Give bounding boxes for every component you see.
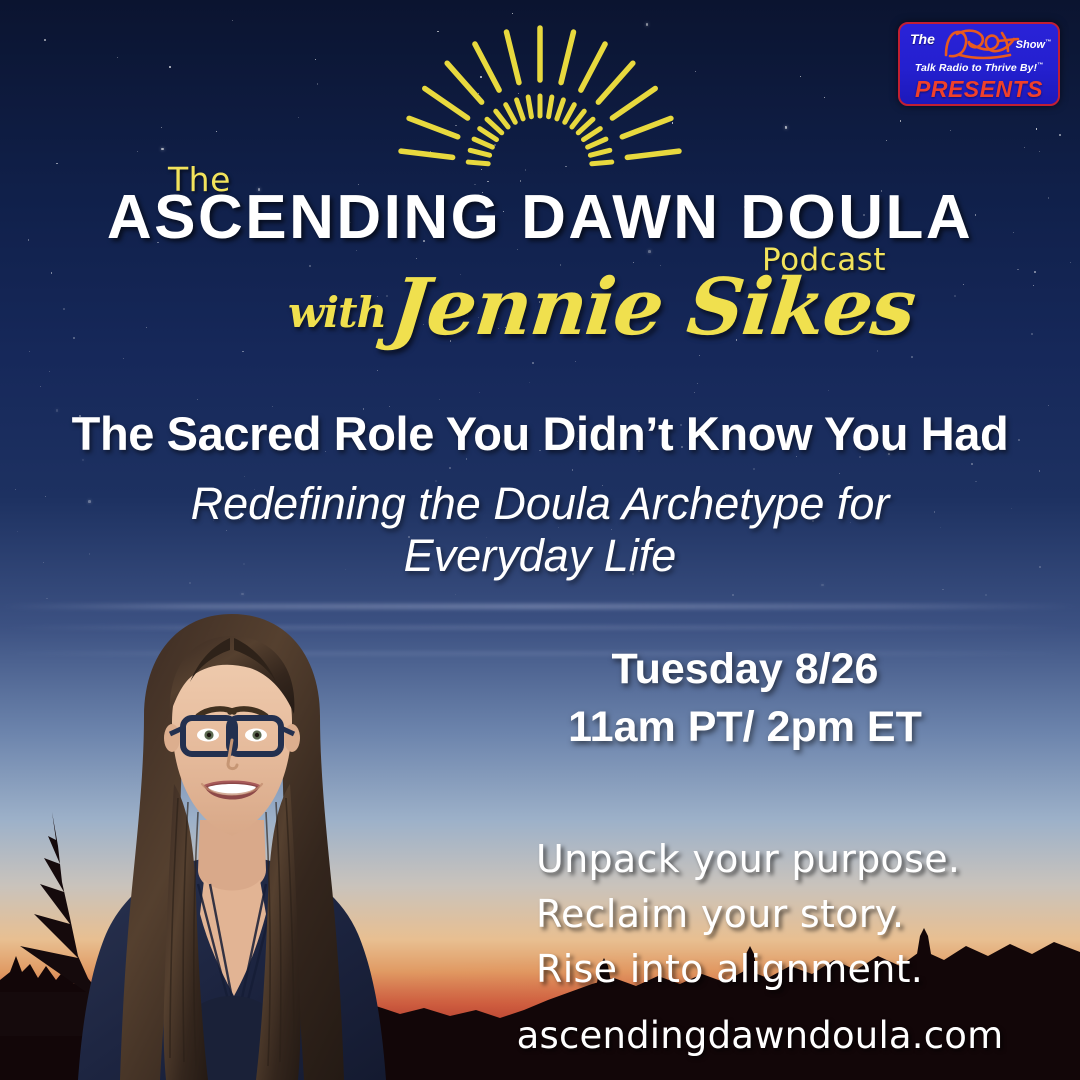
sunburst-ray xyxy=(581,44,605,90)
episode-subtitle-line2: Everyday Life xyxy=(0,530,1080,582)
star-dot xyxy=(954,295,956,297)
sunburst-ray xyxy=(425,88,468,118)
star-dot xyxy=(512,13,513,14)
star-dot xyxy=(161,127,162,128)
star-dot xyxy=(123,358,124,359)
sunburst-ray xyxy=(598,63,632,102)
star-dot xyxy=(137,151,138,152)
star-dot xyxy=(117,57,118,58)
star-dot xyxy=(963,284,964,285)
star-dot xyxy=(298,117,300,119)
star-dot xyxy=(197,399,198,400)
tagline-line-3: Rise into alignment. xyxy=(536,942,1016,997)
star-dot xyxy=(785,126,788,129)
star-dot xyxy=(40,386,41,387)
brand-with-label: with xyxy=(288,288,386,337)
sunburst-ray xyxy=(584,129,601,140)
sunburst-ray xyxy=(622,118,671,136)
star-dot xyxy=(1036,128,1038,130)
star-dot xyxy=(317,83,319,85)
dr-pat-show-presents-logo[interactable]: The Show™ Talk Radio to Thrive By!™ PRES… xyxy=(898,22,1060,106)
star-dot xyxy=(63,308,65,310)
sunburst-ray xyxy=(506,105,516,123)
star-dot xyxy=(1034,271,1036,273)
star-dot xyxy=(146,327,147,328)
sunburst-ray xyxy=(565,105,575,123)
sunburst-ray xyxy=(496,111,508,127)
star-dot xyxy=(828,390,829,391)
sunburst-ray xyxy=(475,44,499,90)
star-dot xyxy=(315,59,316,60)
star-dot xyxy=(699,355,700,356)
sunburst-ray xyxy=(627,151,679,157)
sunburst-ray xyxy=(572,111,584,127)
tagline-line-1: Unpack your purpose. xyxy=(536,832,1016,887)
website-url[interactable]: ascendingdawndoula.com xyxy=(490,1014,1030,1057)
star-dot xyxy=(49,371,50,372)
tagline-line-2: Reclaim your story. xyxy=(536,887,1016,942)
logo-show-label: Show™ xyxy=(1016,39,1051,51)
sunburst-ray xyxy=(590,150,609,155)
episode-subtitle: Redefining the Doula Archetype for Every… xyxy=(0,478,1080,582)
sunburst-ray xyxy=(480,129,497,140)
star-dot xyxy=(821,584,824,587)
sunburst-ray xyxy=(517,100,523,119)
schedule-block: Tuesday 8/26 11am PT/ 2pm ET xyxy=(500,640,990,756)
star-dot xyxy=(824,97,825,98)
star-dot xyxy=(911,356,913,358)
star-dot xyxy=(575,361,576,362)
sunburst-ray xyxy=(528,97,531,117)
tagline-block: Unpack your purpose. Reclaim your story.… xyxy=(536,832,1016,997)
star-dot xyxy=(416,258,417,259)
logo-the-label: The xyxy=(910,31,935,47)
sunburst-ray xyxy=(470,150,489,155)
star-dot xyxy=(189,582,191,584)
star-dot xyxy=(1033,285,1034,286)
star-dot xyxy=(1059,134,1061,136)
star-dot xyxy=(950,130,951,131)
sunburst-ray xyxy=(612,88,655,118)
star-dot xyxy=(169,66,171,68)
host-name-label: Jennie Sikes xyxy=(387,262,918,353)
star-dot xyxy=(1070,262,1071,263)
sunburst-ray xyxy=(447,63,481,102)
page-title: ASCENDING DAWN DOULA xyxy=(0,182,1080,253)
star-dot xyxy=(532,362,534,364)
host-headshot-avatar xyxy=(52,588,412,1080)
sunburst-ray xyxy=(474,139,492,147)
star-dot xyxy=(697,383,698,384)
sunburst-ray xyxy=(401,151,453,157)
star-dot xyxy=(985,594,987,596)
star-dot xyxy=(753,468,755,470)
star-dot xyxy=(242,351,244,353)
sunburst-ray xyxy=(506,32,518,82)
schedule-date: Tuesday 8/26 xyxy=(500,640,990,698)
sunburst-ray xyxy=(487,119,502,133)
star-dot xyxy=(51,272,53,274)
sunburst-ray xyxy=(561,32,573,82)
star-dot xyxy=(732,594,734,596)
logo-tagline: Talk Radio to Thrive By!™ xyxy=(900,62,1058,74)
star-dot xyxy=(244,476,245,477)
sunburst-ray xyxy=(549,97,552,117)
logo-presents-label: PRESENTS xyxy=(900,76,1058,103)
star-dot xyxy=(529,382,530,383)
episode-title: The Sacred Role You Didn’t Know You Had xyxy=(0,406,1080,461)
star-dot xyxy=(839,473,840,474)
sunburst-ray xyxy=(409,118,458,136)
star-dot xyxy=(1039,470,1041,472)
star-dot xyxy=(216,131,217,132)
star-dot xyxy=(694,392,695,393)
sunburst-ray xyxy=(468,162,488,164)
star-dot xyxy=(479,392,480,393)
star-dot xyxy=(886,140,887,141)
star-dot xyxy=(44,39,46,41)
star-dot xyxy=(1017,269,1018,270)
sunburst-ray xyxy=(588,139,606,147)
dr-pat-script-signature-icon xyxy=(940,25,1026,65)
star-dot xyxy=(232,20,233,21)
logo-top-row: The Show™ xyxy=(900,27,1058,65)
sunrise-rays-icon xyxy=(340,18,740,178)
star-dot xyxy=(1039,151,1040,152)
star-dot xyxy=(309,265,310,266)
episode-subtitle-line1: Redefining the Doula Archetype for xyxy=(0,478,1080,530)
star-dot xyxy=(386,295,388,297)
star-dot xyxy=(56,163,58,165)
star-dot xyxy=(572,469,573,470)
sunburst-ray xyxy=(592,162,612,164)
star-dot xyxy=(455,594,456,595)
star-dot xyxy=(29,351,30,352)
schedule-time: 11am PT/ 2pm ET xyxy=(500,698,990,756)
star-dot xyxy=(46,598,48,600)
star-dot xyxy=(1031,333,1033,335)
star-dot xyxy=(900,120,901,121)
sunburst-ray xyxy=(578,119,593,133)
star-dot xyxy=(161,148,164,151)
star-dot xyxy=(449,467,451,469)
star-dot xyxy=(1024,147,1025,148)
podcast-promo-poster: The Show™ Talk Radio to Thrive By!™ PRES… xyxy=(0,0,1080,1080)
star-dot xyxy=(942,589,944,591)
star-dot xyxy=(439,399,440,400)
star-dot xyxy=(971,463,973,465)
star-dot xyxy=(377,370,378,371)
star-dot xyxy=(800,76,801,77)
star-dot xyxy=(73,337,75,339)
sunburst-ray xyxy=(557,100,563,119)
